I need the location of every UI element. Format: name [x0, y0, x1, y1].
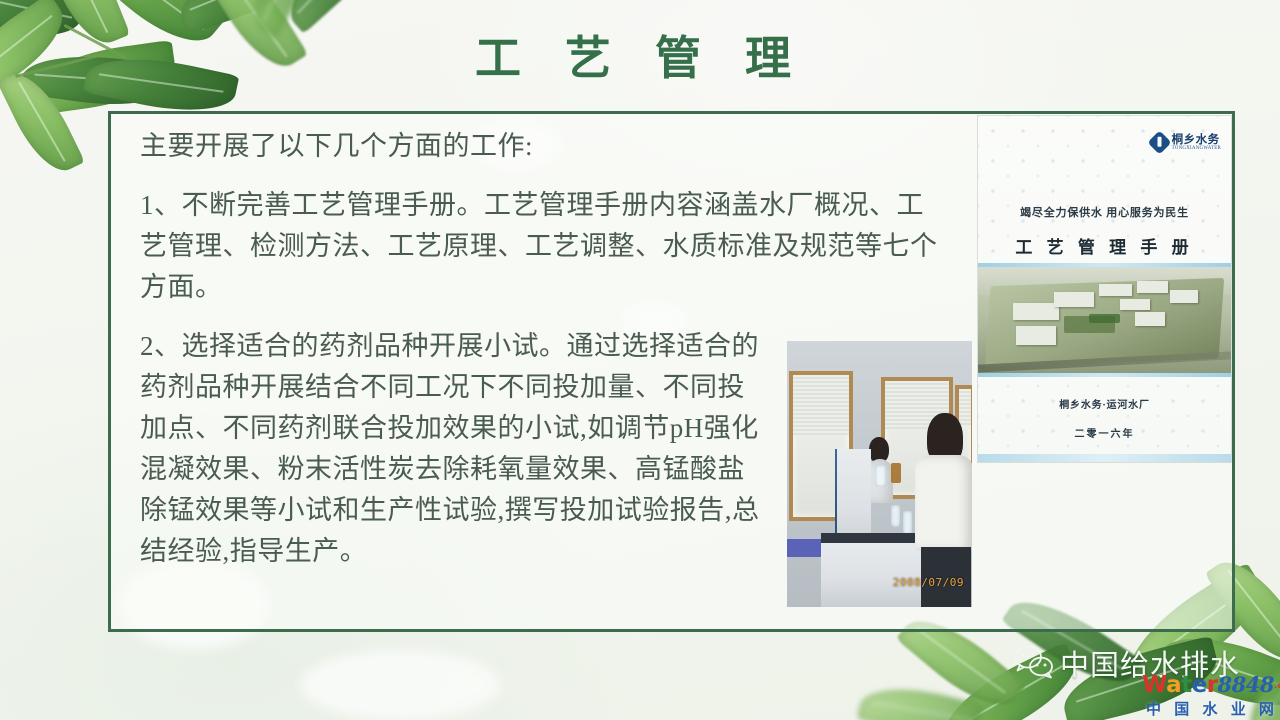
brand-name-cn: 中 国 水 业 网	[1142, 698, 1280, 719]
lab-amber-bottle	[891, 463, 901, 483]
logo-text: 桐乡水务 TONGXIANGWATER	[1172, 134, 1221, 151]
lab-bottle	[875, 465, 886, 487]
cover-slogan: 竭尽全力保供水 用心服务为民生	[978, 204, 1231, 220]
cover-footer-year: 二零一六年	[978, 425, 1231, 440]
water8848-logo: Water8848.com 中 国 水 业 网	[1142, 674, 1280, 719]
manual-cover-image: 桐乡水务 TONGXIANGWATER 竭尽全力保供水 用心服务为民生 工 艺 …	[978, 116, 1231, 462]
plant-aerial-photo	[978, 267, 1231, 373]
cover-band-bottom	[978, 373, 1231, 377]
photo-timestamp: 2008/07/09	[893, 576, 964, 589]
lab-blue-box	[787, 539, 821, 557]
channel-watermark: 中国给水排水 Water8848.com 中 国 水 业 网	[1012, 638, 1280, 720]
cover-bottom-bar	[978, 454, 1231, 462]
brand-wordmark: Water8848.com	[1142, 674, 1280, 697]
lab-bottle	[891, 505, 900, 527]
page-title: 工 艺 管 理	[0, 22, 1280, 88]
presentation-slide: 工 艺 管 理 主要开展了以下几个方面的工作: 1、不断完善工艺管理手册。工艺管…	[0, 0, 1280, 720]
cover-footer-org: 桐乡水务·运河水厂	[978, 396, 1231, 411]
paragraph-1: 1、不断完善工艺管理手册。工艺管理手册内容涵盖水厂概况、工艺管理、检测方法、工艺…	[140, 185, 940, 308]
wechat-icon	[1012, 644, 1056, 680]
brand-suffix: .com	[1274, 681, 1280, 690]
water-drop-icon	[1147, 131, 1171, 155]
lab-bottle	[903, 511, 912, 535]
paragraph-2: 2、选择适合的药剂品种开展小试。通过选择适合的药剂品种开展结合不同工况下不同投加…	[140, 326, 760, 572]
brand-number: 8848	[1218, 672, 1274, 697]
logo-name-en: TONGXIANGWATER	[1172, 146, 1221, 151]
background-speck	[300, 650, 500, 720]
cover-main-title: 工 艺 管 理 手 册	[978, 233, 1231, 258]
cover-footer: 桐乡水务·运河水厂 二零一六年	[978, 396, 1231, 440]
window-blind	[959, 389, 971, 426]
tongxiang-water-logo: 桐乡水务 TONGXIANGWATER	[1151, 134, 1221, 151]
jar-test-lab-photo: 2008/07/09	[787, 341, 972, 607]
lead-paragraph: 主要开展了以下几个方面的工作:	[140, 126, 940, 167]
logo-name-cn: 桐乡水务	[1172, 134, 1221, 146]
window-blind	[793, 375, 849, 435]
